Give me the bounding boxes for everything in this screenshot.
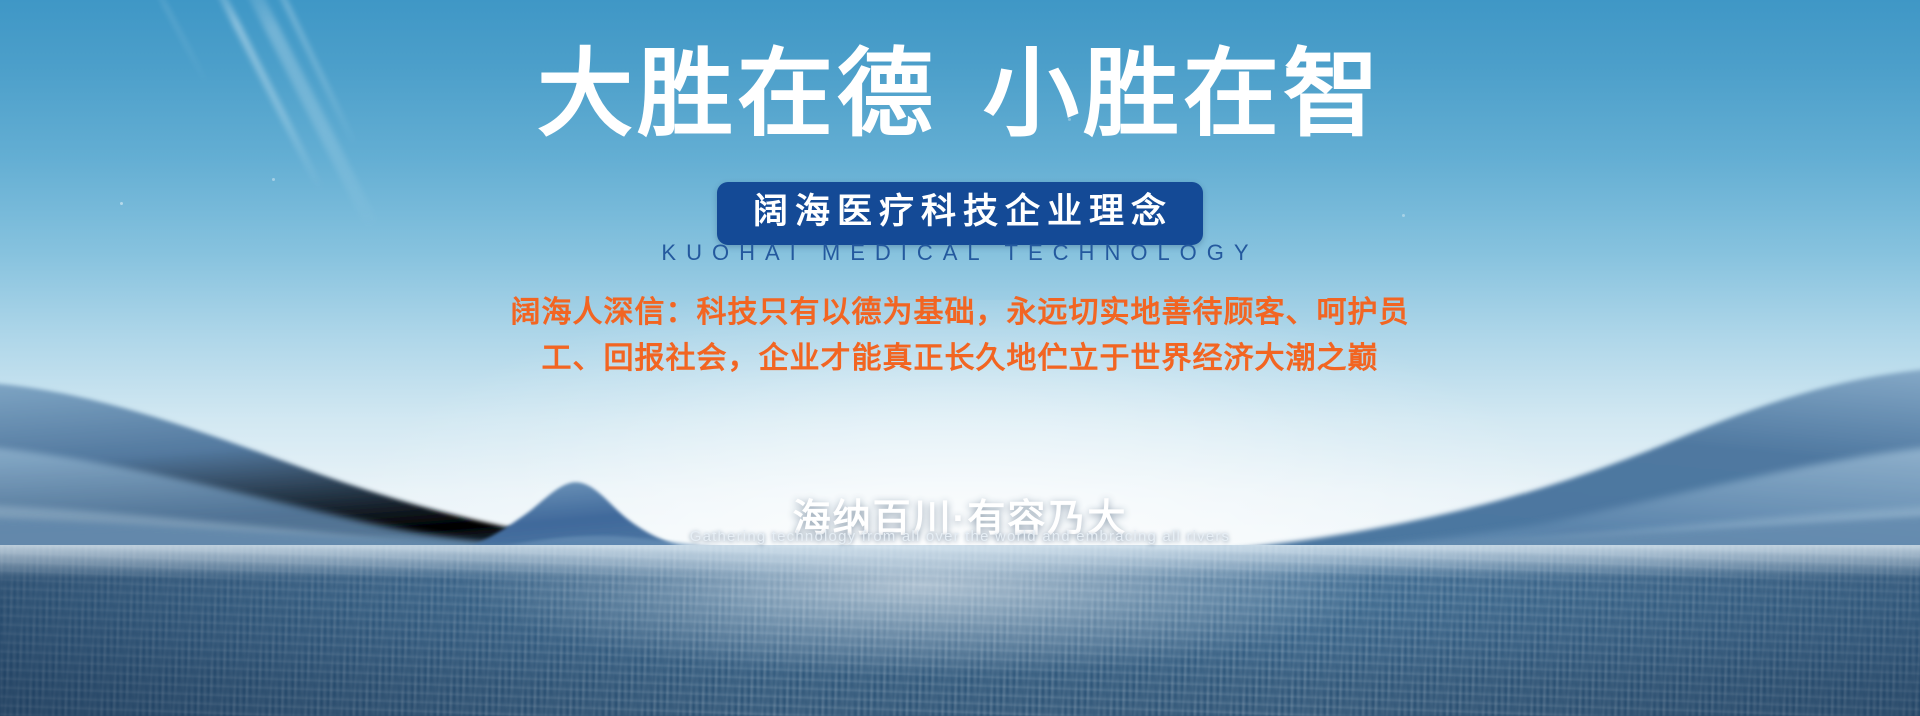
paragraph-line-1: 阔海人深信：科技只有以德为基础，永远切实地善待顾客、呵护员 xyxy=(0,290,1920,336)
paragraph-line-2: 工、回报社会，企业才能真正长久地伫立于世界经济大潮之巅 xyxy=(0,336,1920,382)
main-title: 大胜在德小胜在智 xyxy=(0,46,1920,144)
badge-container: 阔海医疗科技企业理念 xyxy=(0,182,1920,245)
tagline-english: Gathering technology from all over the w… xyxy=(0,528,1920,545)
main-title-left: 大胜在德 xyxy=(537,41,937,148)
philosophy-paragraph: 阔海人深信：科技只有以德为基础，永远切实地善待顾客、呵护员 工、回报社会，企业才… xyxy=(0,290,1920,381)
main-title-right: 小胜在智 xyxy=(983,41,1383,148)
banner-content: 大胜在德小胜在智 阔海医疗科技企业理念 KUOHAI MEDICAL TECHN… xyxy=(0,0,1920,716)
kuohai-philosophy-banner: 大胜在德小胜在智 阔海医疗科技企业理念 KUOHAI MEDICAL TECHN… xyxy=(0,0,1920,716)
philosophy-badge: 阔海医疗科技企业理念 xyxy=(717,182,1203,245)
english-subtitle: KUOHAI MEDICAL TECHNOLOGY xyxy=(0,240,1920,266)
